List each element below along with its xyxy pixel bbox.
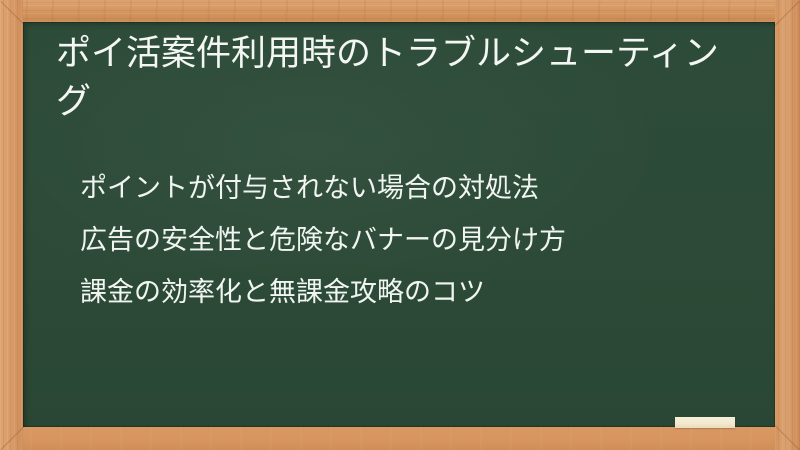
chalk-eraser: [675, 417, 735, 428]
topic-list: ポイントが付与されない場合の対処法 広告の安全性と危険なバナーの見分け方 課金の…: [80, 162, 750, 318]
list-item: 広告の安全性と危険なバナーの見分け方: [80, 214, 750, 266]
chalkboard-surface: ポイ活案件利用時のトラブルシューティング ポイントが付与されない場合の対処法 広…: [23, 22, 775, 427]
list-item: ポイントが付与されない場合の対処法: [80, 162, 750, 214]
list-item: 課金の効率化と無課金攻略のコツ: [80, 266, 750, 318]
frame-rail-top: [0, 0, 800, 22]
frame-rail-left: [0, 0, 23, 450]
chalkboard-content: ポイ活案件利用時のトラブルシューティング ポイントが付与されない場合の対処法 広…: [23, 22, 775, 427]
frame-rail-bottom: [0, 427, 800, 450]
frame-rail-right: [775, 0, 800, 450]
chalkboard-slide: ポイ活案件利用時のトラブルシューティング ポイントが付与されない場合の対処法 広…: [0, 0, 800, 450]
board-title: ポイ活案件利用時のトラブルシューティング: [56, 30, 746, 126]
